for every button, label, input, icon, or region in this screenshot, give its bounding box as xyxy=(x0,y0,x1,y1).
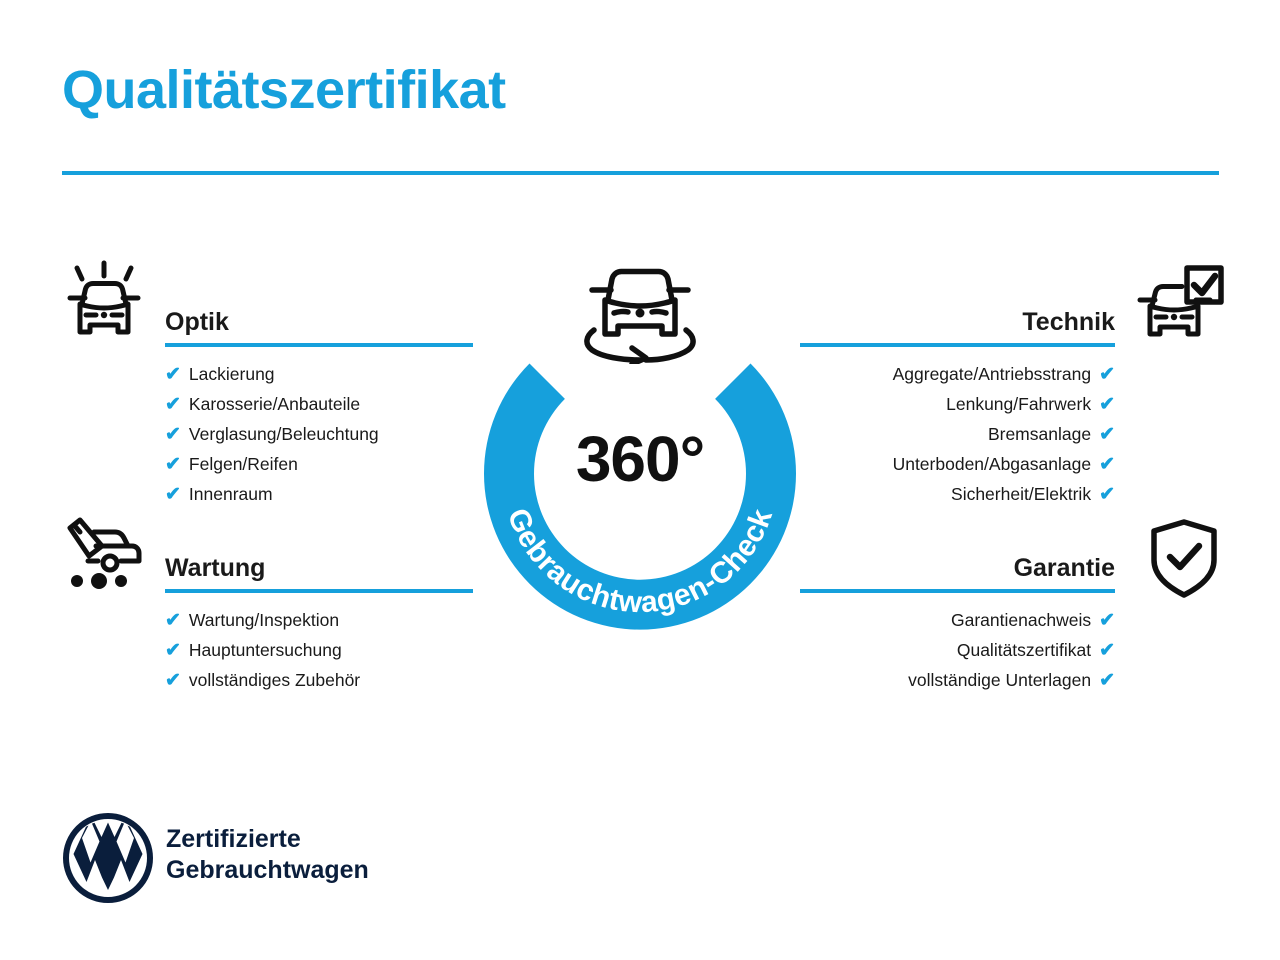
check-icon: ✔ xyxy=(1099,485,1115,504)
check-icon: ✔ xyxy=(165,365,181,384)
certificate-page: Qualitätszertifikat xyxy=(0,0,1280,960)
list-item: ✔ Felgen/Reifen xyxy=(165,449,473,479)
car-pen-service-icon xyxy=(58,508,150,600)
section-wartung-title: Wartung xyxy=(165,554,265,583)
list-item-label: vollständiges Zubehör xyxy=(189,665,360,695)
check-icon: ✔ xyxy=(165,485,181,504)
section-technik-underline xyxy=(800,343,1115,347)
section-technik: Technik Aggregate/Antriebsstrang ✔ Lenku… xyxy=(800,295,1115,509)
list-item: ✔ Wartung/Inspektion xyxy=(165,605,473,635)
footer-brand-line2: Gebrauchtwagen xyxy=(166,855,369,886)
header-divider xyxy=(62,171,1219,175)
page-title: Qualitätszertifikat xyxy=(62,62,506,119)
footer-brand-line1: Zertifizierte xyxy=(166,824,369,855)
list-item-label: Felgen/Reifen xyxy=(189,449,298,479)
list-item: Unterboden/Abgasanlage ✔ xyxy=(800,449,1115,479)
list-item-label: Bremsanlage xyxy=(988,419,1091,449)
section-optik: Optik ✔ Lackierung ✔ Karosserie/Anbautei… xyxy=(165,295,473,509)
section-garantie: Garantie Garantienachweis ✔ Qualitätszer… xyxy=(800,541,1115,695)
car-rotate-icon xyxy=(564,256,716,364)
section-wartung-underline xyxy=(165,589,473,593)
section-garantie-title: Garantie xyxy=(1014,554,1115,583)
section-technik-title: Technik xyxy=(1022,308,1115,337)
check-icon: ✔ xyxy=(1099,425,1115,444)
list-item: ✔ vollständiges Zubehör xyxy=(165,665,473,695)
check-icon: ✔ xyxy=(165,611,181,630)
list-item: ✔ Innenraum xyxy=(165,479,473,509)
section-garantie-header: Garantie xyxy=(800,541,1115,593)
check-icon: ✔ xyxy=(165,395,181,414)
list-item: ✔ Verglasung/Beleuchtung xyxy=(165,419,473,449)
check-icon: ✔ xyxy=(1099,395,1115,414)
list-item-label: Lenkung/Fahrwerk xyxy=(946,389,1091,419)
list-item: ✔ Karosserie/Anbauteile xyxy=(165,389,473,419)
list-item-label: Aggregate/Antriebsstrang xyxy=(893,359,1091,389)
list-item-label: Verglasung/Beleuchtung xyxy=(189,419,379,449)
section-garantie-underline xyxy=(800,589,1115,593)
check-icon: ✔ xyxy=(1099,611,1115,630)
section-optik-underline xyxy=(165,343,473,347)
section-optik-list: ✔ Lackierung ✔ Karosserie/Anbauteile ✔ V… xyxy=(165,359,473,509)
section-wartung-list: ✔ Wartung/Inspektion ✔ Hauptuntersuchung… xyxy=(165,605,473,695)
list-item-label: Unterboden/Abgasanlage xyxy=(893,449,1092,479)
list-item-label: Lackierung xyxy=(189,359,275,389)
check-icon: ✔ xyxy=(1099,671,1115,690)
list-item: Qualitätszertifikat ✔ xyxy=(800,635,1115,665)
check-icon: ✔ xyxy=(165,425,181,444)
vw-logo-icon xyxy=(62,812,154,904)
check-icon: ✔ xyxy=(1099,365,1115,384)
list-item: Sicherheit/Elektrik ✔ xyxy=(800,479,1115,509)
section-wartung-header: Wartung xyxy=(165,541,473,593)
car-shine-icon xyxy=(58,258,150,350)
car-checkbox-icon xyxy=(1134,262,1226,354)
list-item-label: Qualitätszertifikat xyxy=(957,635,1091,665)
list-item-label: Sicherheit/Elektrik xyxy=(951,479,1091,509)
section-garantie-list: Garantienachweis ✔ Qualitätszertifikat ✔… xyxy=(800,605,1115,695)
list-item: Garantienachweis ✔ xyxy=(800,605,1115,635)
section-technik-list: Aggregate/Antriebsstrang ✔ Lenkung/Fahrw… xyxy=(800,359,1115,509)
list-item-label: Wartung/Inspektion xyxy=(189,605,339,635)
list-item: vollständige Unterlagen ✔ xyxy=(800,665,1115,695)
check-icon: ✔ xyxy=(165,455,181,474)
list-item-label: Hauptuntersuchung xyxy=(189,635,342,665)
check-icon: ✔ xyxy=(165,641,181,660)
list-item: ✔ Lackierung xyxy=(165,359,473,389)
section-optik-header: Optik xyxy=(165,295,473,347)
check-icon: ✔ xyxy=(165,671,181,690)
section-technik-header: Technik xyxy=(800,295,1115,347)
list-item-label: Garantienachweis xyxy=(951,605,1091,635)
list-item: Aggregate/Antriebsstrang ✔ xyxy=(800,359,1115,389)
list-item: ✔ Hauptuntersuchung xyxy=(165,635,473,665)
footer-brand-lockup: Zertifizierte Gebrauchtwagen xyxy=(62,812,402,904)
list-item: Lenkung/Fahrwerk ✔ xyxy=(800,389,1115,419)
section-wartung: Wartung ✔ Wartung/Inspektion ✔ Hauptunte… xyxy=(165,541,473,695)
section-optik-title: Optik xyxy=(165,308,229,337)
list-item: Bremsanlage ✔ xyxy=(800,419,1115,449)
list-item-label: vollständige Unterlagen xyxy=(908,665,1091,695)
check-icon: ✔ xyxy=(1099,641,1115,660)
badge-center-label: 360° xyxy=(466,422,814,496)
list-item-label: Karosserie/Anbauteile xyxy=(189,389,360,419)
list-item-label: Innenraum xyxy=(189,479,273,509)
check-icon: ✔ xyxy=(1099,455,1115,474)
shield-check-icon xyxy=(1140,512,1228,604)
footer-brand-text: Zertifizierte Gebrauchtwagen xyxy=(166,824,369,885)
gebrauchtwagen-check-badge: Gebrauchtwagen-Check 360° xyxy=(466,318,814,630)
